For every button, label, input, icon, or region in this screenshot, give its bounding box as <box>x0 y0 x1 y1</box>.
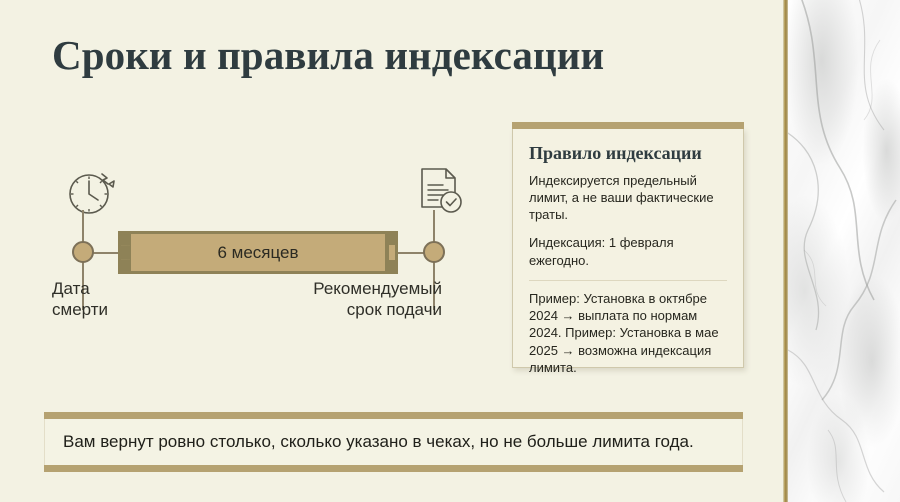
timeline-diagram: 6 месяцев Дата смерти Рекомендуемый срок… <box>52 160 502 340</box>
indexation-rule-card: Правило индексации Индексируется предель… <box>512 128 744 368</box>
banner-bottom-rule <box>44 465 743 472</box>
timeline-end-dot <box>423 241 445 263</box>
marble-decoration-panel <box>788 0 900 502</box>
rule-card-title: Правило индексации <box>529 143 727 164</box>
page-title: Сроки и правила индексации <box>52 33 604 79</box>
rule-card-paragraph-2: Индексация: 1 февраля ежегодно. <box>529 234 727 268</box>
summary-banner: Вам вернут ровно столько, сколько указан… <box>44 412 743 472</box>
timeline-start-label-line1: Дата <box>52 278 108 299</box>
banner-text: Вам вернут ровно столько, сколько указан… <box>44 419 743 465</box>
timeline-end-label-line2: срок подачи <box>313 299 442 320</box>
timeline-end-label: Рекомендуемый срок подачи <box>313 278 442 321</box>
rule-card-divider <box>529 280 727 281</box>
timeline-duration-label: 6 месяцев <box>217 243 298 263</box>
bar-left-notch-icon <box>121 234 131 271</box>
timeline-start-label: Дата смерти <box>52 278 108 321</box>
timeline-start-dot <box>72 241 94 263</box>
bar-right-notch-icon <box>385 234 395 271</box>
timeline-duration-bar-fill: 6 месяцев <box>121 234 395 271</box>
timeline-duration-bar: 6 месяцев <box>118 231 398 274</box>
rule-card-paragraph-1: Индексируется предельный лимит, а не ваш… <box>529 172 727 223</box>
gold-divider-line <box>783 0 788 502</box>
timeline-start-label-line2: смерти <box>52 299 108 320</box>
document-check-icon <box>410 162 468 225</box>
banner-top-rule <box>44 412 743 419</box>
slide: Сроки и правила индексации <box>0 0 900 502</box>
timeline-axis: 6 месяцев <box>52 232 502 274</box>
marble-veins-icon <box>788 0 900 502</box>
rule-card-examples: Пример: Установка в октябре 2024 → выпла… <box>529 290 727 376</box>
timeline-end-label-line1: Рекомендуемый <box>313 278 442 299</box>
clock-icon <box>64 164 120 225</box>
